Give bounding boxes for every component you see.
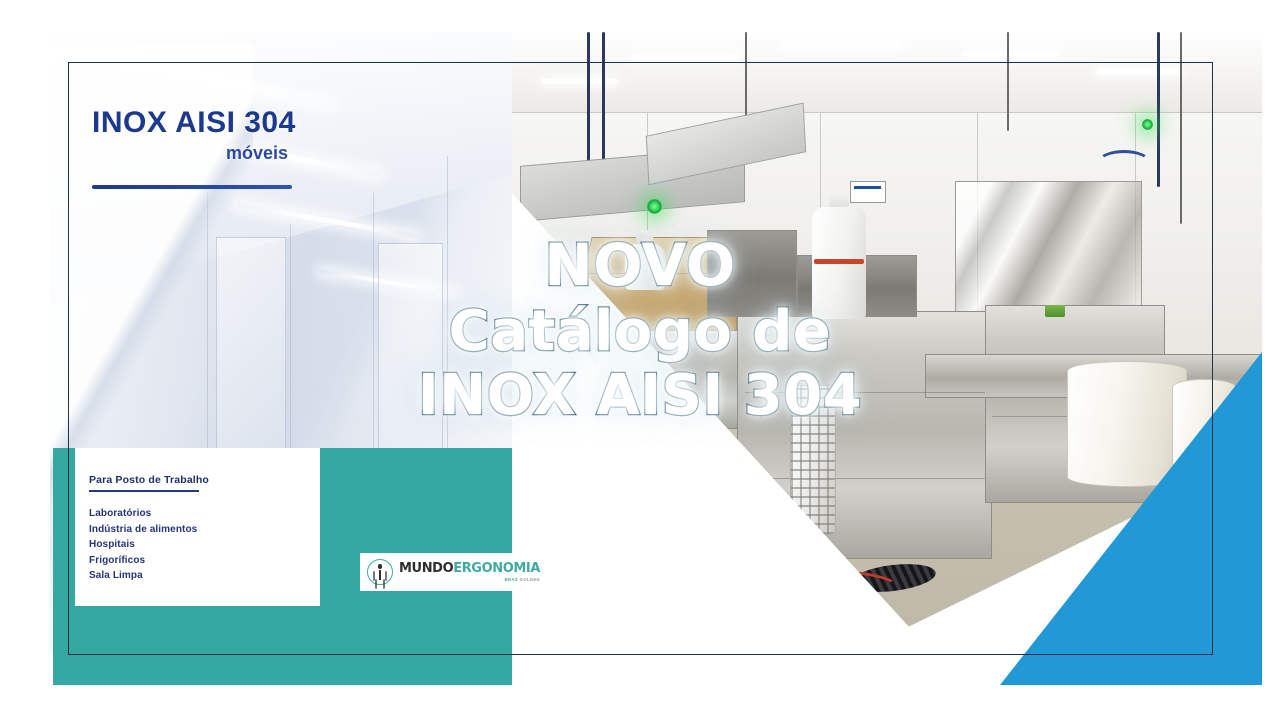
hanging-cable [1007,32,1009,131]
brand-word-primary: MUNDO [399,562,453,575]
machine-panel-line [745,392,985,393]
blue-hose [1097,150,1151,176]
worker-belt [814,259,864,264]
info-card-list: Laboratórios Indústria de alimentos Hosp… [89,506,320,584]
machine-head [707,230,797,317]
sign-bar [854,186,881,189]
paper-roll [1067,361,1187,487]
info-card-heading-rule [89,490,199,492]
ceiling-lamp [542,79,617,84]
ceiling-lamp [782,44,902,49]
brand-word-secondary: ERGONOMIA [453,562,540,575]
brand-tagline-primary: BRAS [505,577,518,582]
brand-tagline-secondary: GOLDEN [520,577,540,582]
list-item: Laboratórios [89,506,320,522]
ceiling-lamp [962,51,1060,56]
list-item: Frigoríficos [89,553,320,569]
info-card-heading: Para Posto de Trabalho [89,474,320,486]
worker-seated [625,230,665,290]
hanging-cable [1157,32,1160,187]
cover-title: INOX AISI 304 [92,106,296,140]
list-item: Hospitais [89,537,320,553]
hanging-cable [587,32,590,168]
hanging-cable [1180,32,1182,224]
list-item: Indústria de alimentos [89,522,320,538]
worker-coverall [625,244,665,290]
cover-subtitle: móveis [226,143,288,164]
stainless-reflective-panel [955,181,1143,317]
green-indicator-lamp [1142,119,1153,130]
green-crate [1045,305,1065,317]
brand-logo-wordmark: MUNDO ERGONOMIA BRAS GOLDEN [399,562,540,582]
brand-logo: MUNDO ERGONOMIA BRAS GOLDEN [360,553,512,591]
cleanroom-door [378,243,443,479]
ceiling-lamp [1097,69,1180,74]
list-item: Sala Limpa [89,568,320,584]
worker-standing [812,193,866,319]
brand-tagline: BRAS GOLDEN [505,578,540,582]
cover-title-rule [92,185,292,189]
banner-canvas: INOX AISI 304 móveis [0,0,1280,720]
machine-panel-line [745,478,985,479]
vitruvian-man-icon [367,559,393,585]
ceiling-lamp [632,54,737,59]
info-card: Para Posto de Trabalho Laboratórios Indú… [75,448,320,606]
